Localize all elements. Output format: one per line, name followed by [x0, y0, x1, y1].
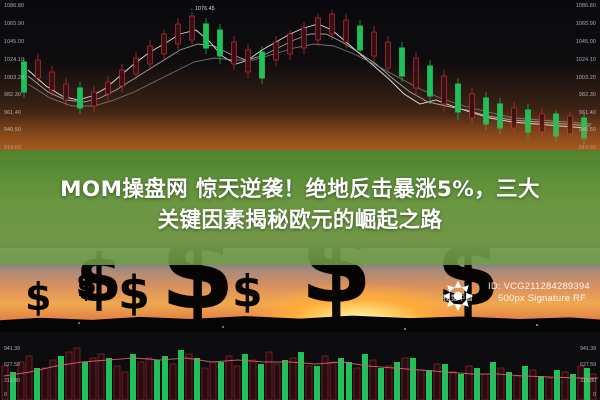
ma-line-slow [28, 44, 592, 124]
price-axis-right-tick-3: 1024.10 [576, 57, 596, 63]
watermark-license: 500px Signature RF [488, 293, 590, 305]
price-chart-svg [0, 0, 600, 160]
price-axis-left-tick-7: 940.50 [4, 127, 21, 133]
price-axis-left-tick-2: 1045.00 [4, 39, 24, 45]
price-axis-left-tick-6: 961.40 [4, 110, 21, 116]
price-axis-right-tick-7: 940.50 [579, 127, 596, 133]
price-axis-right-tick-6: 961.40 [579, 110, 596, 116]
price-axis-right-tick-5: 982.30 [579, 92, 596, 98]
price-axis-right-tick-4: 1003.20 [576, 75, 596, 81]
price-axis-left-tick-5: 982.30 [4, 92, 21, 98]
volume-axis-left-tick-0: 941.39 [4, 346, 20, 352]
price-axis-left-tick-0: 1086.80 [4, 3, 24, 9]
price-axis-right-tick-0: 1086.80 [576, 3, 596, 9]
screenshot-root: ←1076.45 1086.80 1065.90 1045.00 1024.10… [0, 0, 600, 400]
volume-chart-panel: 941.39 627.59 313.80 0 941.39 627.59 313… [0, 332, 600, 400]
volume-axis-right-tick-3: 0 [593, 392, 596, 398]
price-axis-left-tick-4: 1003.20 [4, 75, 24, 81]
dollar-sign-silhouette: $ [25, 278, 51, 316]
headline-band [0, 150, 600, 265]
volume-chart-svg [0, 332, 600, 400]
price-axis-right-tick-1: 1065.90 [576, 21, 596, 27]
watermark-text: ID: VCG211284289394 500px Signature RF [488, 281, 590, 304]
price-axis-left-tick-3: 1024.10 [4, 57, 24, 63]
dollar-sign-silhouette: $ [118, 270, 150, 316]
volume-axis-right-tick-1: 627.59 [580, 362, 596, 368]
watermark-id: ID: VCG211284289394 [488, 281, 590, 293]
bokeh-particle [78, 322, 80, 324]
volume-axis-left-tick-1: 627.59 [4, 362, 20, 368]
volume-axis-left-tick-2: 313.80 [4, 378, 20, 384]
ma-line-mid [28, 34, 590, 126]
vcg-brand-label: 视觉中国 [443, 293, 473, 303]
dollar-sign-silhouette: $ [232, 270, 263, 314]
volume-axis-right-tick-0: 941.39 [580, 346, 596, 352]
volume-axis-left-tick-3: 0 [4, 392, 7, 398]
price-chart-panel: ←1076.45 1086.80 1065.90 1045.00 1024.10… [0, 0, 600, 160]
bokeh-particle [536, 324, 538, 326]
bokeh-particle [222, 326, 224, 328]
price-axis-right-tick-2: 1045.00 [576, 39, 596, 45]
dollar-sign-silhouette: $ [76, 270, 97, 300]
candle-series-down [36, 10, 573, 140]
price-axis-left-tick-1: 1065.90 [4, 21, 24, 27]
price-annotation: ←1076.45 [190, 6, 215, 12]
volume-axis-right-tick-2: 313.80 [580, 378, 596, 384]
bokeh-particle [404, 328, 406, 330]
